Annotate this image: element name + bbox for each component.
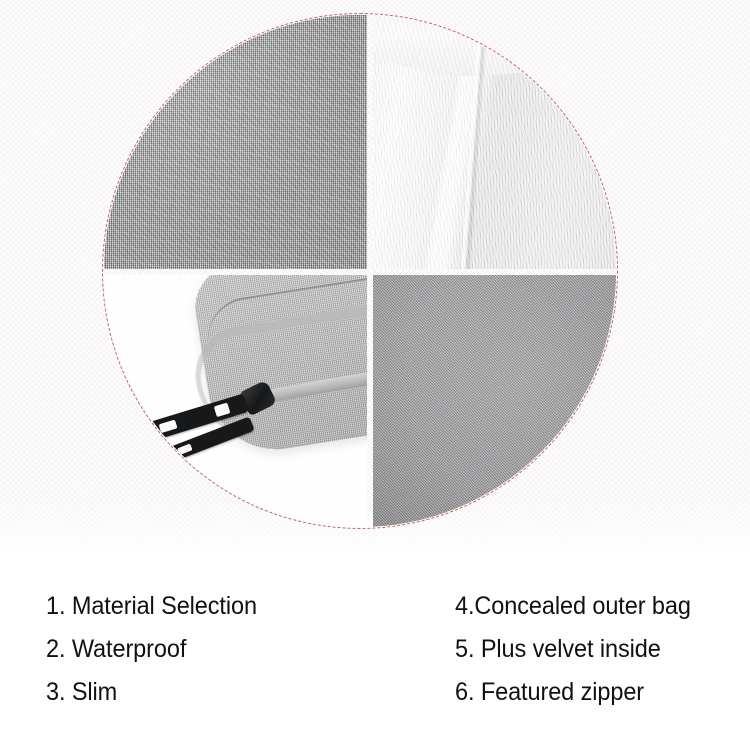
- grey-fabric-texture: [373, 275, 616, 527]
- feature-item-6: 6. Featured zipper: [455, 671, 691, 714]
- feature-item-4: 4.Concealed outer bag: [455, 585, 691, 628]
- velvet-top-curve: [373, 15, 616, 76]
- feature-list-right-column: 4.Concealed outer bag 5. Plus velvet ins…: [455, 585, 706, 714]
- circular-product-collage: [104, 15, 616, 527]
- white-velvet-texture: [373, 15, 616, 269]
- zipper-pull-slot: [214, 403, 231, 418]
- fabric-vignette: [373, 275, 616, 527]
- zipper-scene: [104, 275, 367, 527]
- product-infographic: 1. Material Selection 2. Waterproof 3. S…: [0, 0, 750, 750]
- zipper-pull-slot: [159, 420, 178, 434]
- grey-linen-texture: [104, 15, 367, 269]
- feature-item-2: 2. Waterproof: [46, 628, 257, 671]
- feature-list: 1. Material Selection 2. Waterproof 3. S…: [0, 585, 750, 730]
- quadrant-grey-linen-fabric-photo[interactable]: [104, 15, 367, 269]
- velvet-fold-edge: [461, 15, 490, 269]
- quadrant-zipper-pulls-photo[interactable]: [104, 275, 367, 527]
- quadrant-white-velvet-lining-photo[interactable]: [373, 15, 616, 269]
- feature-item-3: 3. Slim: [46, 671, 257, 714]
- feature-item-1: 1. Material Selection: [46, 585, 257, 628]
- feature-list-left-column: 1. Material Selection 2. Waterproof 3. S…: [46, 585, 270, 714]
- zipper-pull-slot: [177, 444, 193, 456]
- feature-item-5: 5. Plus velvet inside: [455, 628, 691, 671]
- quadrant-concealed-outer-pocket-photo[interactable]: [373, 275, 616, 527]
